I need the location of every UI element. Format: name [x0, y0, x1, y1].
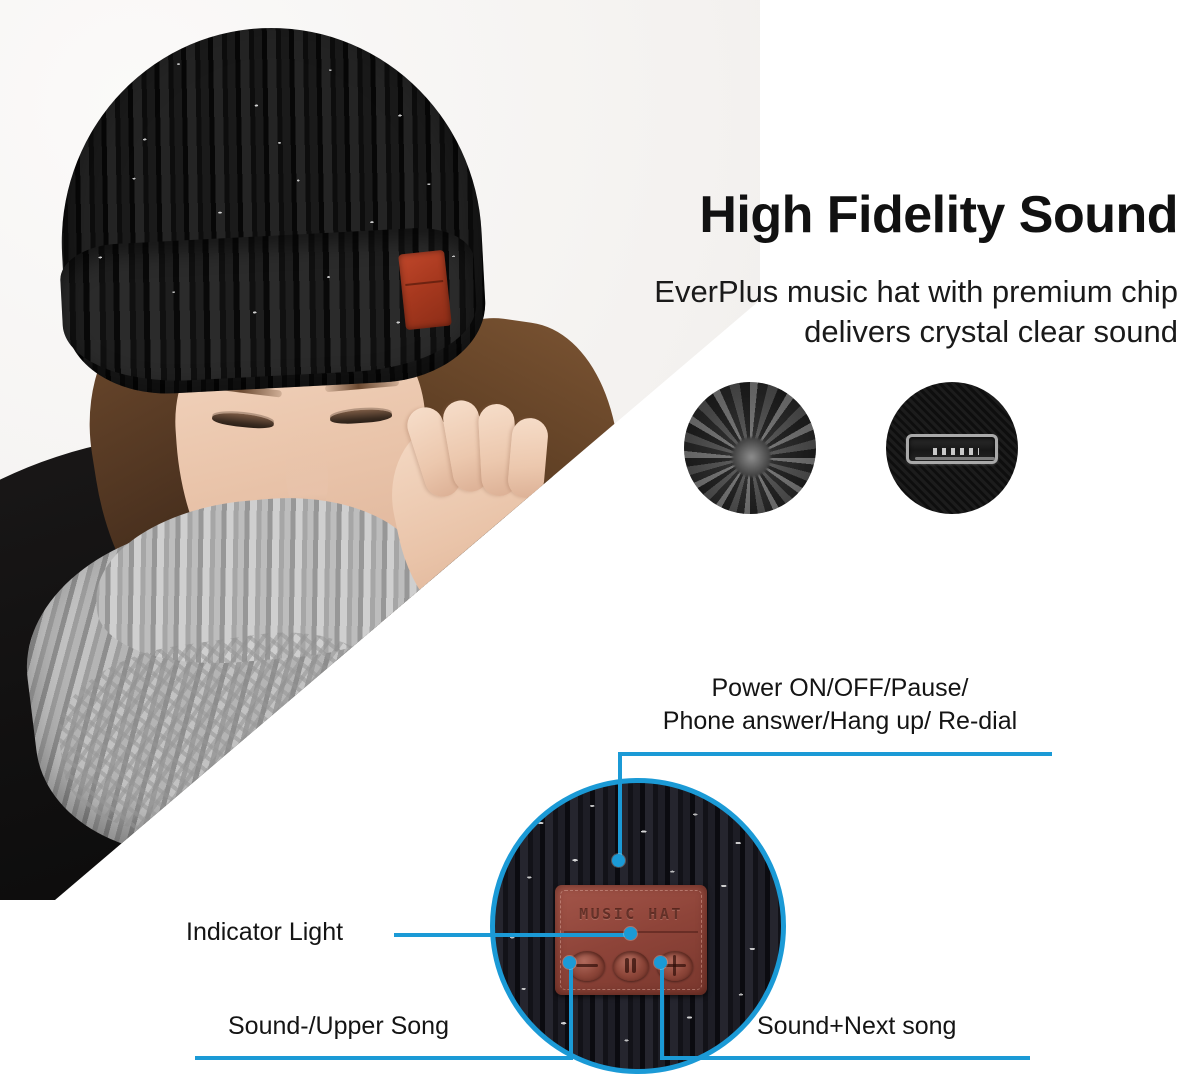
usb-port-lip	[915, 457, 995, 460]
fleece-swirl-center	[732, 437, 772, 477]
callout-sound-down-label: Sound-/Upper Song	[228, 1012, 449, 1041]
beanie-leather-tag	[398, 250, 452, 330]
control-panel-detail-photo: MUSIC HAT	[490, 778, 786, 1074]
callout-power-line2: Phone answer/Hang up/ Re-dial	[663, 707, 1017, 735]
callout-power-line1: Power ON/OFF/Pause/	[711, 674, 968, 702]
anchor-dot-indicator	[624, 927, 637, 940]
callout-power-label: Power ON/OFF/Pause/ Phone answer/Hang up…	[600, 672, 1080, 737]
tag-brand-label: MUSIC HAT	[555, 905, 707, 923]
usb-pin-contacts	[933, 448, 979, 455]
leader-line-indicator	[394, 933, 632, 937]
leader-line-sound-down-vertical	[569, 962, 573, 1060]
leader-line-power-horizontal	[618, 752, 1052, 756]
micro-usb-port	[906, 434, 998, 464]
leader-line-sound-up-vertical	[660, 962, 664, 1060]
charging-port-icon	[886, 382, 1018, 514]
callout-sound-up-label: Sound+Next song	[757, 1012, 956, 1041]
leader-line-power-vertical	[618, 752, 622, 860]
leader-line-sound-down-horizontal	[195, 1056, 573, 1060]
model-finger	[507, 417, 550, 500]
hero-lifestyle-photo	[0, 0, 760, 900]
anchor-dot-sound-down	[563, 956, 576, 969]
anchor-dot-power	[612, 854, 625, 867]
music-hat-leather-tag: MUSIC HAT	[555, 885, 707, 995]
callout-indicator-label: Indicator Light	[186, 918, 343, 947]
power-button[interactable]	[613, 951, 649, 981]
page-subtitle: EverPlus music hat with premium chip del…	[590, 272, 1178, 351]
leader-line-sound-up-horizontal	[660, 1056, 1030, 1060]
page-title: High Fidelity Sound	[598, 188, 1178, 243]
fleece-lining-icon	[684, 382, 816, 514]
product-infographic: High Fidelity Sound EverPlus music hat w…	[0, 0, 1200, 1074]
anchor-dot-sound-up	[654, 956, 667, 969]
